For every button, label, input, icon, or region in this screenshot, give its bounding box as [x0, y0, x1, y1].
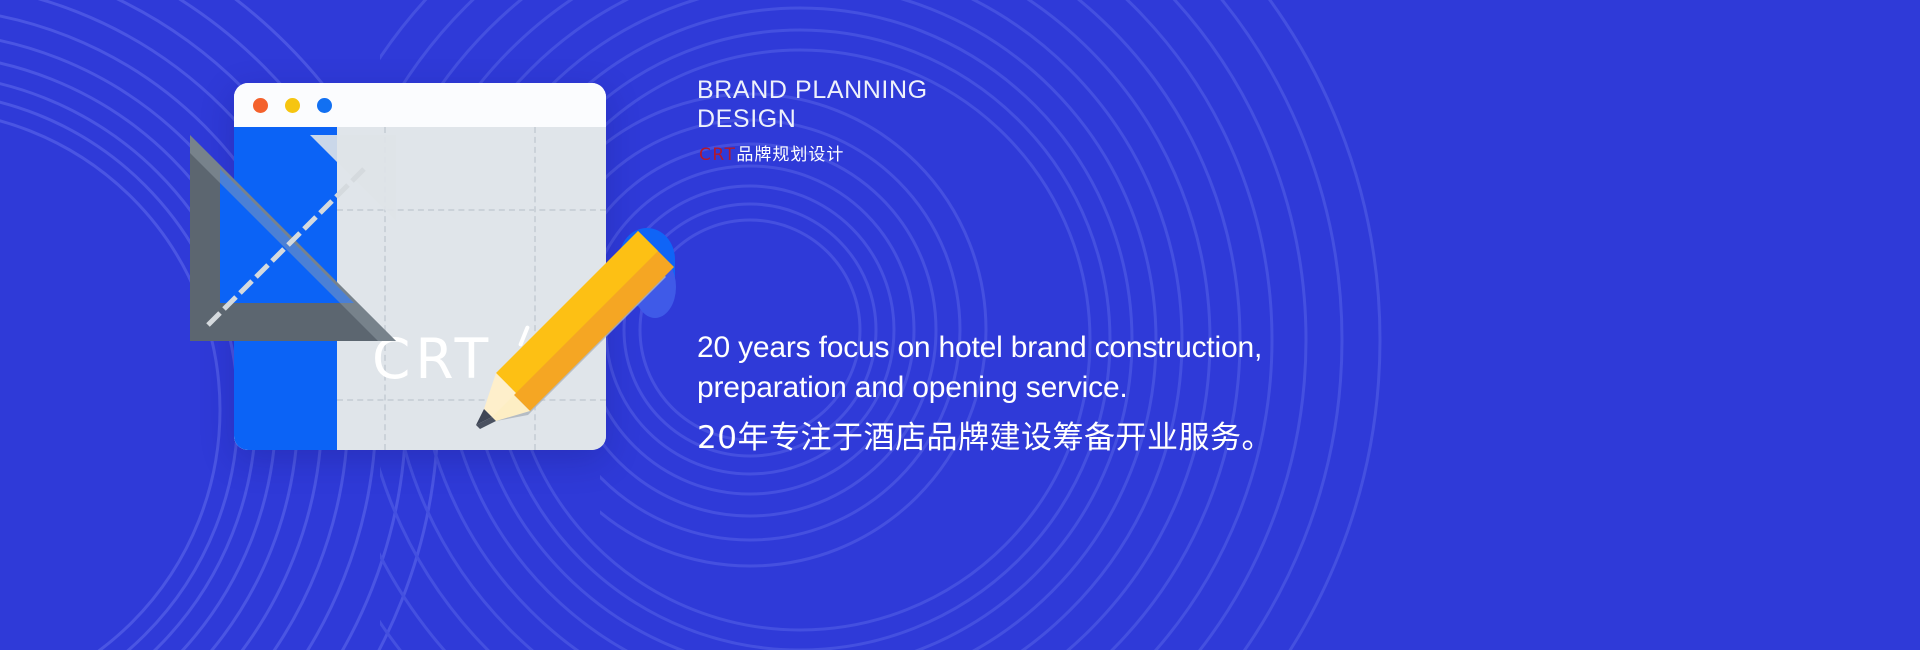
- triangle-ruler-icon: [190, 135, 396, 341]
- pencil-svg: [470, 225, 690, 435]
- pencil-icon: [470, 225, 690, 435]
- page-subtitle: CRT品牌规划设计: [699, 140, 844, 165]
- tagline-chinese: 20年专注于酒店品牌建设筹备开业服务。: [697, 414, 1377, 462]
- close-dot-icon: [253, 98, 268, 113]
- subtitle-text: 品牌规划设计: [736, 145, 844, 165]
- window-titlebar: [234, 83, 606, 127]
- subtitle-brand: CRT: [699, 145, 736, 165]
- brand-planning-banner: CRT: [0, 0, 1920, 650]
- page-tagline: 20 years focus on hotel brand constructi…: [697, 328, 1377, 462]
- maximize-dot-icon: [317, 98, 332, 113]
- headline-line-1: BRAND PLANNING: [697, 76, 1157, 105]
- triangle-ruler-svg: [190, 135, 396, 341]
- headline-line-2: DESIGN: [697, 105, 1157, 134]
- tagline-english-line-1: 20 years focus on hotel brand constructi…: [697, 328, 1377, 368]
- minimize-dot-icon: [285, 98, 300, 113]
- page-headline: BRAND PLANNING DESIGN: [697, 76, 1157, 134]
- tagline-english-line-2: preparation and opening service.: [697, 368, 1377, 408]
